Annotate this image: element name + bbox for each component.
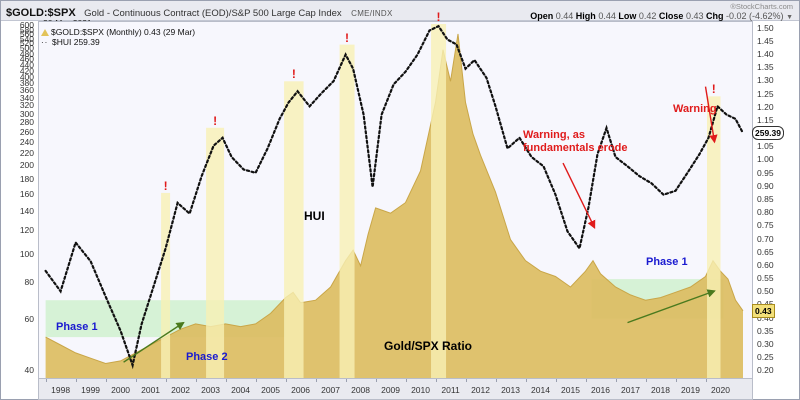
phase1-left-label: Phase 1	[56, 321, 98, 333]
warn-band-2008	[340, 45, 355, 378]
x-tickmark-2014	[526, 379, 527, 382]
y-left-tick-120: 120	[20, 225, 34, 235]
y-right-tick-0.90: 0.90	[757, 181, 774, 191]
x-tickmark-2001	[136, 379, 137, 382]
y-left-tick-600: 600	[20, 20, 34, 30]
x-tickmark-2017	[616, 379, 617, 382]
x-tick-2010: 2010	[411, 385, 430, 395]
hui-price-tag: 259.39	[752, 126, 784, 140]
x-tick-2001: 2001	[141, 385, 160, 395]
warn-band-2020-exclamation: !	[712, 82, 716, 96]
chevron-down-icon[interactable]: ▼	[786, 14, 793, 21]
phase1-right-label-line-1: Phase 1	[646, 256, 688, 268]
y-right-tick-0.30: 0.30	[757, 339, 774, 349]
x-tickmark-2019	[676, 379, 677, 382]
y-left-tick-100: 100	[20, 249, 34, 259]
legend-label: $HUI 259.39	[52, 37, 100, 47]
y-left-tick-260: 260	[20, 127, 34, 137]
x-tick-1998: 1998	[51, 385, 70, 395]
close-label: Close	[659, 11, 684, 21]
x-tick-2004: 2004	[231, 385, 250, 395]
x-tickmark-2009	[376, 379, 377, 382]
y-right-tick-0.95: 0.95	[757, 168, 774, 178]
x-tick-2016: 2016	[591, 385, 610, 395]
warn-band-2003-exclamation: !	[213, 114, 217, 128]
chg-value: -0.02 (-4.62%)	[726, 11, 784, 21]
y-right-tick-0.85: 0.85	[757, 194, 774, 204]
x-tickmark-2015	[556, 379, 557, 382]
x-tickmark-2008	[346, 379, 347, 382]
phase2-label: Phase 2	[186, 351, 228, 363]
y-right-tick-0.20: 0.20	[757, 365, 774, 375]
y-right-tick-1.40: 1.40	[757, 49, 774, 59]
stockcharts-credit: ®StockCharts.com	[730, 2, 793, 11]
y-right-tick-0.75: 0.75	[757, 220, 774, 230]
symbol-exchange: CME/INDX	[351, 9, 393, 18]
y-right-tick-0.60: 0.60	[757, 260, 774, 270]
high-label: High	[576, 11, 596, 21]
x-tick-2008: 2008	[351, 385, 370, 395]
y-right-tick-1.20: 1.20	[757, 102, 774, 112]
y-right-tick-0.65: 0.65	[757, 247, 774, 257]
warn-band-2002-exclamation: !	[164, 179, 168, 193]
y-left-tick-220: 220	[20, 148, 34, 158]
warning-fundamentals-label: Warning, asfundamentals erode	[523, 129, 628, 155]
y-right-tick-1.05: 1.05	[757, 141, 774, 151]
x-tickmark-2010	[406, 379, 407, 382]
y-left-tick-240: 240	[20, 137, 34, 147]
warning-label: Warning	[673, 103, 717, 116]
y-right-tick-0.50: 0.50	[757, 286, 774, 296]
y-right-tick-1.45: 1.45	[757, 36, 774, 46]
dotted-line-icon: ··	[41, 38, 50, 48]
warn-band-2006	[284, 81, 303, 378]
y-left-tick-160: 160	[20, 189, 34, 199]
y-right-tick-1.35: 1.35	[757, 62, 774, 72]
x-tickmark-2011	[436, 379, 437, 382]
y-right-tick-1.25: 1.25	[757, 89, 774, 99]
legend-row-2: ··$HUI 259.39	[41, 37, 195, 48]
y-right-tick-1.00: 1.00	[757, 154, 774, 164]
x-tick-2003: 2003	[201, 385, 220, 395]
y-left-tick-280: 280	[20, 117, 34, 127]
x-tick-1999: 1999	[81, 385, 100, 395]
x-tick-2019: 2019	[681, 385, 700, 395]
x-tickmark-1998	[46, 379, 47, 382]
x-axis: 1998199920002001200220032004200520062007…	[38, 379, 753, 400]
y-right-tick-1.30: 1.30	[757, 75, 774, 85]
x-tick-2011: 2011	[441, 385, 459, 395]
x-tickmark-2006	[286, 379, 287, 382]
y-right-tick-1.50: 1.50	[757, 23, 774, 33]
x-tickmark-2003	[196, 379, 197, 382]
phase1-left-label-line-1: Phase 1	[56, 321, 98, 333]
phase2-label-line-1: Phase 2	[186, 351, 228, 363]
credit-text: StockCharts.com	[736, 2, 793, 11]
warning-label-line-1: Warning	[673, 103, 717, 116]
y-right-tick-1.15: 1.15	[757, 115, 774, 125]
x-tick-2006: 2006	[291, 385, 310, 395]
chg-label: Chg	[706, 11, 724, 21]
symbol-description: Gold - Continuous Contract (EOD)/S&P 500…	[84, 8, 342, 19]
ratio-price-tag: 0.43	[752, 304, 775, 318]
warn-band-2002	[161, 193, 170, 378]
hui-series-label: HUI	[304, 209, 325, 223]
x-tickmark-2016	[586, 379, 587, 382]
x-tick-2014: 2014	[531, 385, 550, 395]
ratio-series-label-line-1: Gold/SPX Ratio	[384, 339, 472, 353]
x-tick-2009: 2009	[381, 385, 400, 395]
ratio-series-label: Gold/SPX Ratio	[384, 339, 472, 353]
warn-band-2003	[206, 128, 224, 378]
x-tickmark-1999	[76, 379, 77, 382]
y-right-tick-0.35: 0.35	[757, 326, 774, 336]
x-tickmark-2005	[256, 379, 257, 382]
plot-canvas	[39, 22, 752, 378]
x-tick-2020: 2020	[711, 385, 730, 395]
y-axis-left: 4060801001201401601802002202402602803003…	[1, 21, 38, 379]
gold-triangle-icon	[41, 29, 49, 36]
plot-area[interactable]	[38, 21, 753, 379]
chart-header-bar: $GOLD:$SPX Gold - Continuous Contract (E…	[1, 1, 799, 21]
x-tick-2013: 2013	[501, 385, 520, 395]
x-tick-2007: 2007	[321, 385, 340, 395]
x-tick-2002: 2002	[171, 385, 190, 395]
warn-band-2011-exclamation: !	[437, 10, 441, 24]
quote-bar: Open 0.44 High 0.44 Low 0.42 Close 0.43 …	[530, 11, 793, 21]
hui-series-label-line-1: HUI	[304, 209, 325, 223]
y-right-tick-0.25: 0.25	[757, 352, 774, 362]
warning-fundamentals-label-line-2: fundamentals erode	[523, 142, 628, 155]
y-left-tick-180: 180	[20, 174, 34, 184]
x-tick-2012: 2012	[471, 385, 490, 395]
warn-band-2006-exclamation: !	[292, 67, 296, 81]
warn-band-2011	[431, 24, 446, 378]
legend-row-1: $GOLD:$SPX (Monthly) 0.43 (29 Mar)	[41, 27, 195, 37]
x-tickmark-2020	[706, 379, 707, 382]
y-right-tick-0.55: 0.55	[757, 273, 774, 283]
close-value: 0.43	[686, 11, 704, 21]
y-left-tick-40: 40	[25, 365, 34, 375]
y-left-tick-200: 200	[20, 160, 34, 170]
x-tickmark-2007	[316, 379, 317, 382]
x-tick-2018: 2018	[651, 385, 670, 395]
x-tickmark-2002	[166, 379, 167, 382]
x-tickmark-2004	[226, 379, 227, 382]
x-tick-2005: 2005	[261, 385, 280, 395]
x-tick-2015: 2015	[561, 385, 580, 395]
phase1-right-label: Phase 1	[646, 256, 688, 268]
x-tick-2000: 2000	[111, 385, 130, 395]
high-value: 0.44	[598, 11, 616, 21]
x-tickmark-2013	[496, 379, 497, 382]
series-legend: $GOLD:$SPX (Monthly) 0.43 (29 Mar)··$HUI…	[41, 27, 195, 48]
open-label: Open	[530, 11, 553, 21]
y-right-tick-0.80: 0.80	[757, 207, 774, 217]
low-label: Low	[618, 11, 636, 21]
x-tick-2017: 2017	[621, 385, 640, 395]
warn-band-2008-exclamation: !	[345, 31, 349, 45]
warning-fundamentals-label-line-1: Warning, as	[523, 129, 628, 142]
x-tickmark-2012	[466, 379, 467, 382]
y-axis-right: 0.200.250.300.350.400.450.500.550.600.65…	[753, 21, 800, 379]
legend-label: $GOLD:$SPX (Monthly) 0.43 (29 Mar)	[51, 27, 195, 37]
x-tickmark-2000	[106, 379, 107, 382]
y-left-tick-80: 80	[25, 277, 34, 287]
open-value: 0.44	[556, 11, 574, 21]
x-tickmark-2018	[646, 379, 647, 382]
y-right-tick-0.70: 0.70	[757, 234, 774, 244]
stockcharts-chart: $GOLD:$SPX Gold - Continuous Contract (E…	[0, 0, 800, 400]
low-value: 0.42	[639, 11, 657, 21]
y-left-tick-140: 140	[20, 206, 34, 216]
y-left-tick-60: 60	[25, 314, 34, 324]
